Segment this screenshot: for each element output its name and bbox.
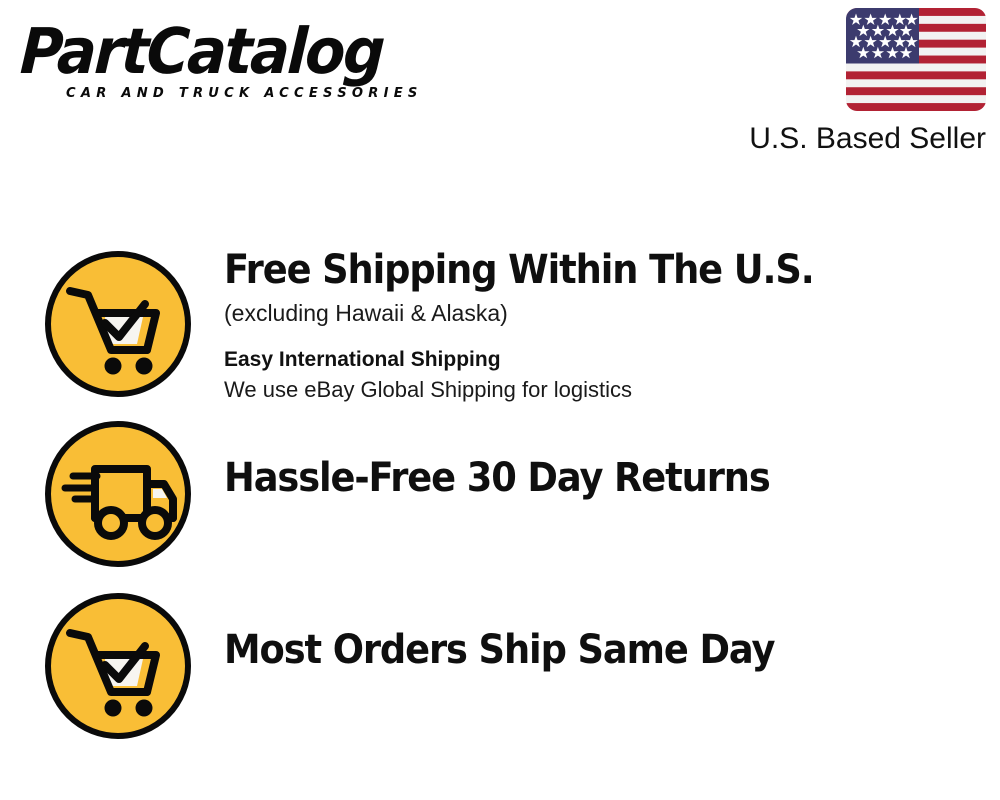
benefit-title: Most Orders Ship Same Day (224, 629, 774, 671)
benefit-row: Free Shipping Within The U.S. (excluding… (0, 249, 1000, 405)
benefit-note: (excluding Hawaii & Alaska) (224, 298, 865, 329)
brand-wordmark: PartCatalog (19, 20, 459, 83)
shopping-cart-check-icon (43, 591, 193, 741)
benefit-title: Hassle-Free 30 Day Returns (224, 457, 770, 499)
brand-logo[interactable]: PartCatalog CAR AND TRUCK ACCESSORIES (22, 20, 492, 116)
benefit-subnote: We use eBay Global Shipping for logistic… (224, 375, 865, 405)
benefit-row: Most Orders Ship Same Day (0, 591, 1000, 741)
us-based-seller-badge: U.S. Based Seller (716, 8, 986, 155)
benefit-row: Hassle-Free 30 Day Returns (0, 419, 1000, 569)
benefit-text-block: Free Shipping Within The U.S. (excluding… (224, 249, 865, 405)
brand-tagline: CAR AND TRUCK ACCESSORIES (66, 85, 479, 101)
shopping-cart-check-icon (43, 249, 193, 399)
benefit-text-block: Hassle-Free 30 Day Returns (224, 419, 817, 499)
delivery-truck-icon (43, 419, 193, 569)
benefit-subtitle: Easy International Shipping (224, 346, 865, 373)
benefit-title: Free Shipping Within The U.S. (224, 249, 814, 291)
seller-label: U.S. Based Seller (716, 122, 986, 155)
us-flag-icon (846, 8, 986, 111)
benefit-text-block: Most Orders Ship Same Day (224, 591, 822, 671)
